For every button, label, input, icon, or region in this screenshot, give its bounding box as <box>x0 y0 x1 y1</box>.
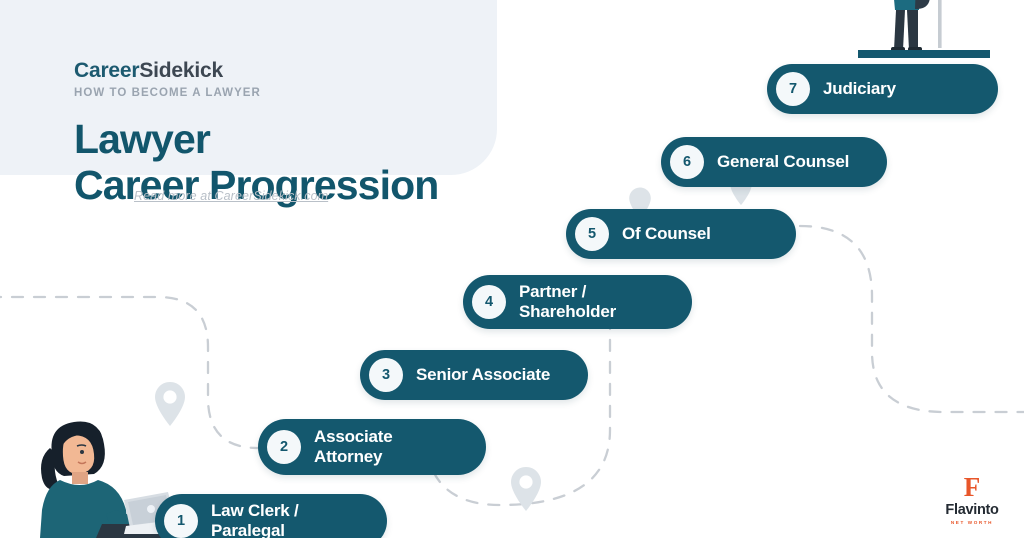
step-label-2: Associate Attorney <box>314 427 460 467</box>
header-kicker: HOW TO BECOME A LAWYER <box>74 87 534 99</box>
step-number-badge-3: 3 <box>369 358 403 392</box>
read-more-link[interactable]: Read more at CareerSidekick.com <box>134 189 328 203</box>
step-pill-1[interactable]: 1 Law Clerk / Paralegal <box>155 494 387 538</box>
step-pill-7[interactable]: 7 Judiciary <box>767 64 998 114</box>
step-label-5: Of Counsel <box>622 224 711 244</box>
page-title-line-1: Lawyer <box>74 117 534 163</box>
header-content: CareerSidekick HOW TO BECOME A LAWYER La… <box>74 60 534 209</box>
step-number-badge-1: 1 <box>164 504 198 538</box>
flavinto-tagline: NET WORTH <box>951 521 993 526</box>
step-pill-4[interactable]: 4 Partner / Shareholder <box>463 275 692 329</box>
step-label-4: Partner / Shareholder <box>519 282 616 322</box>
step-number-badge-2: 2 <box>267 430 301 464</box>
brand-secondary: Sidekick <box>139 59 223 82</box>
step-number-badge-7: 7 <box>776 72 810 106</box>
flavinto-logo: F Flavinto NET WORTH <box>924 470 1020 536</box>
step-label-6: General Counsel <box>717 152 849 172</box>
brand-primary: Career <box>74 59 139 82</box>
step-pill-2[interactable]: 2 Associate Attorney <box>258 419 486 475</box>
step-pill-5[interactable]: 5 Of Counsel <box>566 209 796 259</box>
flavinto-f-mark-icon: F <box>964 474 981 501</box>
person-with-laptop-illustration <box>16 414 176 538</box>
step-number-badge-4: 4 <box>472 285 506 319</box>
step-label-3: Senior Associate <box>416 365 550 385</box>
brand-logo: CareerSidekick <box>74 60 534 81</box>
step-number-badge-6: 6 <box>670 145 704 179</box>
infographic-canvas: 1 Law Clerk / Paralegal 2 Associate Atto… <box>0 0 1024 538</box>
step-number-badge-5: 5 <box>575 217 609 251</box>
step-label-7: Judiciary <box>823 79 896 99</box>
step-pill-3[interactable]: 3 Senior Associate <box>360 350 588 400</box>
step-pill-6[interactable]: 6 General Counsel <box>661 137 887 187</box>
step-label-1: Law Clerk / Paralegal <box>211 501 299 538</box>
map-pin-icon <box>508 465 544 515</box>
person-with-backpack-illustration <box>858 0 990 58</box>
flavinto-wordmark: Flavinto <box>945 503 998 518</box>
